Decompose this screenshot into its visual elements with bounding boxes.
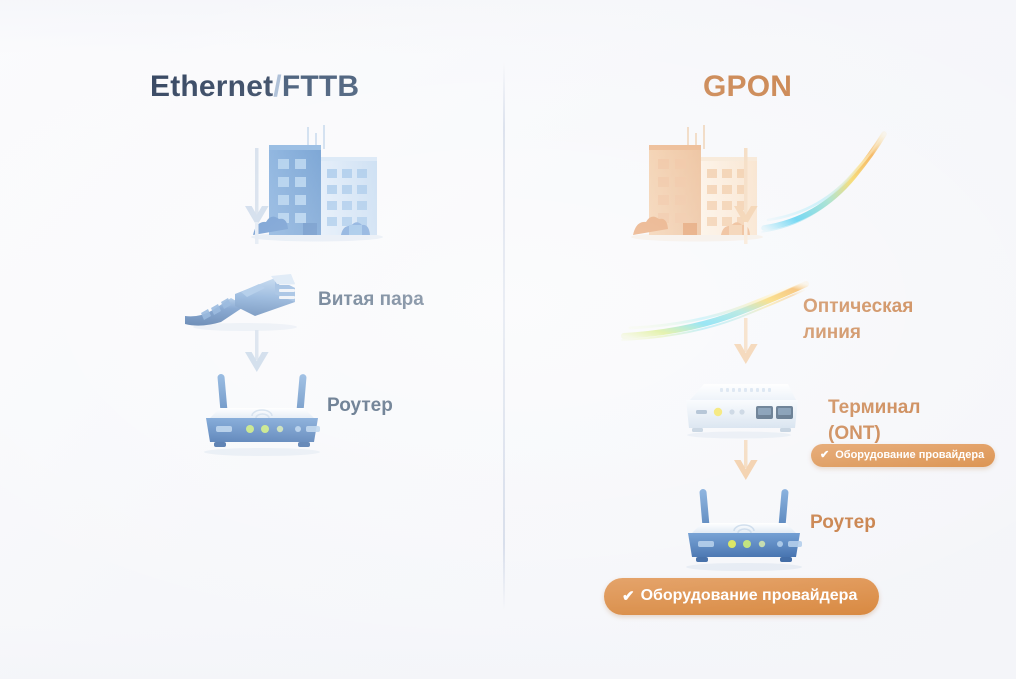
left-column-title: Ethernet/FTTB	[150, 70, 359, 104]
label-router-left: Роутер	[327, 393, 393, 419]
badge-label: Оборудование провайдера	[835, 449, 984, 461]
wifi-router-right-icon	[672, 487, 816, 578]
badge-provider-equipment-router[interactable]: ✔ Оборудование провайдера	[604, 578, 879, 615]
title-fttb: FTTB	[282, 70, 359, 103]
fiber-optic-streak-main-icon	[620, 278, 810, 349]
check-icon: ✔	[820, 450, 829, 461]
label-optical-line: Оптическая линия	[803, 294, 913, 346]
check-icon: ✔	[622, 589, 635, 604]
rj45-ethernet-cable-icon	[183, 272, 313, 339]
diagram-canvas: Ethernet/FTTB GPON	[0, 0, 1016, 679]
arrow-down-1-icon	[243, 148, 271, 244]
fiber-optic-streak-top-icon	[760, 128, 890, 241]
wifi-router-left-icon	[190, 372, 334, 463]
label-router-right: Роутер	[810, 510, 876, 536]
arrow-down-right-3-icon	[732, 440, 760, 492]
title-separator: /	[273, 70, 282, 103]
label-terminal-ont: Терминал (ONT)	[828, 395, 920, 447]
badge-provider-equipment-terminal[interactable]: ✔ Оборудование провайдера	[811, 444, 995, 467]
arrow-down-right-2-icon	[732, 318, 760, 376]
ont-terminal-icon	[676, 378, 802, 445]
column-divider	[503, 62, 505, 610]
right-column-title: GPON	[703, 70, 792, 104]
badge-label: Оборудование провайдера	[641, 587, 858, 605]
arrow-down-right-1-icon	[732, 148, 760, 244]
label-twisted-pair: Витая пара	[318, 287, 424, 313]
title-ethernet: Ethernet	[150, 70, 273, 103]
